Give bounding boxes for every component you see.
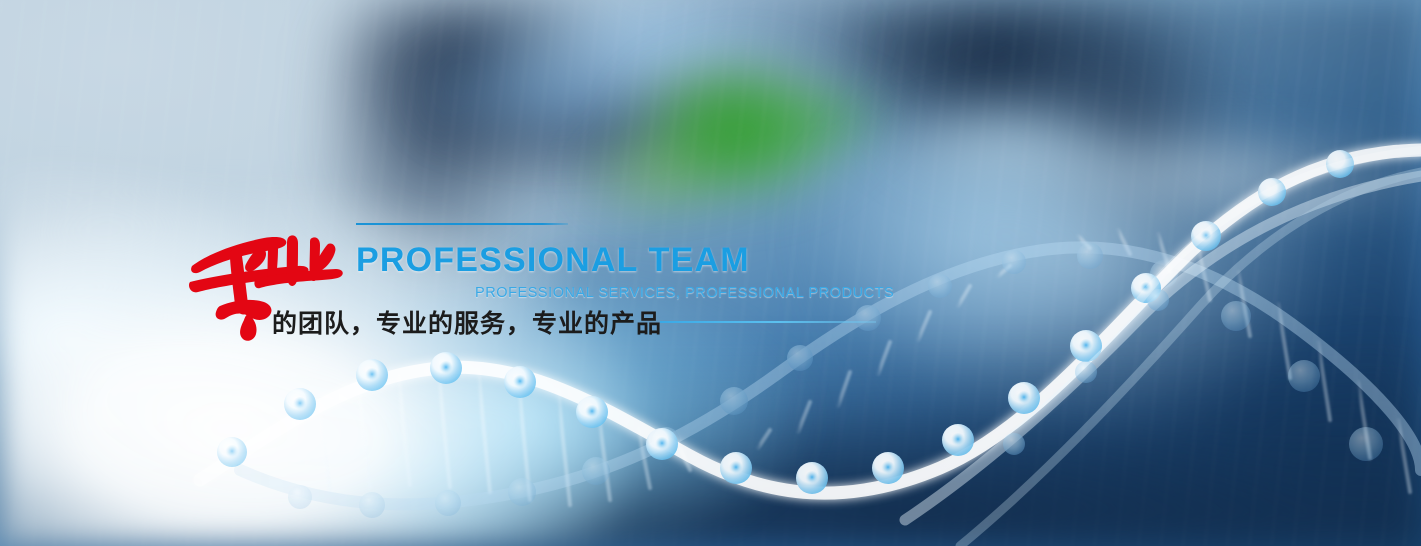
banner-tagline-chinese: 的团队，专业的服务，专业的产品 bbox=[272, 308, 662, 341]
banner-subheadline: PROFESSIONAL SERVICES, PROFESSIONAL PROD… bbox=[475, 286, 894, 301]
rule-below-tagline bbox=[660, 321, 876, 323]
banner-headline: PROFESSIONAL TEAM bbox=[356, 243, 750, 277]
rule-above-headline bbox=[356, 223, 568, 225]
hero-banner: PROFESSIONAL TEAM PROFESSIONAL SERVICES,… bbox=[0, 0, 1421, 546]
